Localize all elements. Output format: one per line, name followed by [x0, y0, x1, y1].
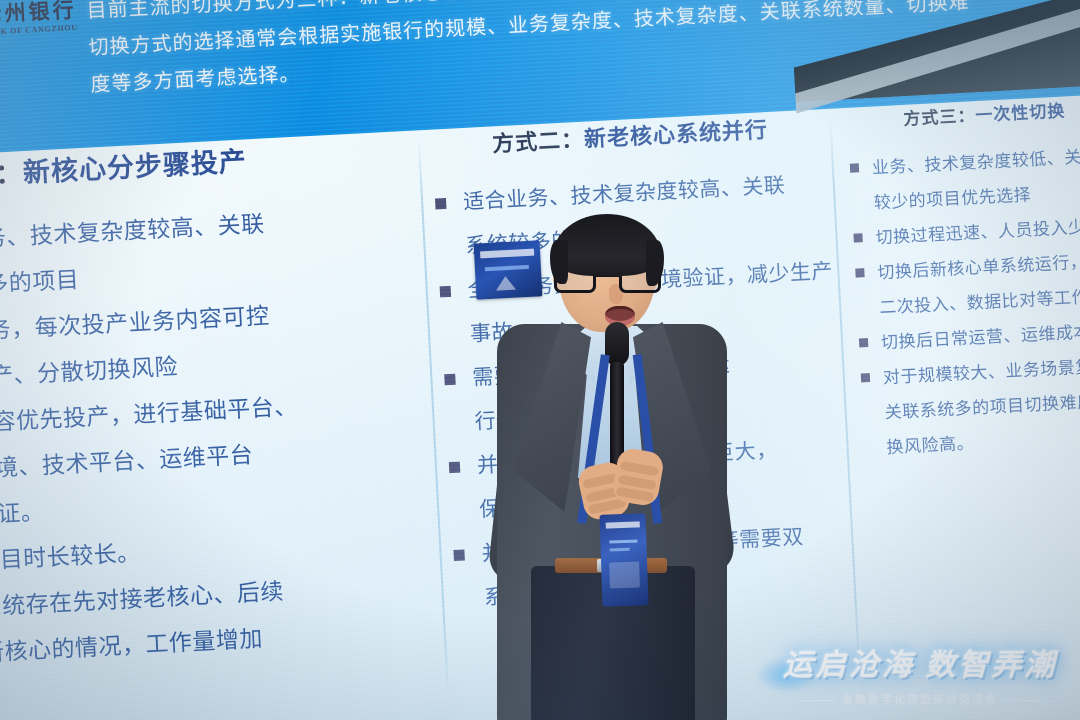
- column-method-one: 方式一：新核心分步骤投产 适合业务、技术复杂度较高、关联 系统较多的项目 拆分业…: [0, 133, 401, 681]
- bullet-text: 适合业务、技术复杂度较高、关联: [463, 174, 786, 214]
- photo-scene: 信创环境的切换方式 目前主流的切换方式为三种：新老核心系统并行使用、新核心分步骤…: [0, 0, 1080, 720]
- bullet-text: 系统较多的项目: [0, 266, 80, 301]
- bullet-text: 业务、技术复杂度较低、关联系统: [871, 145, 1080, 178]
- bullet-text: 对接新核心的情况，工作量增加: [0, 625, 263, 668]
- bullet-square-icon: [853, 233, 862, 242]
- bullet-square-icon: [861, 373, 870, 382]
- bullet-square-icon: [444, 374, 456, 386]
- conference-badge: [599, 513, 648, 607]
- bullet-text: 切换后日常运营、运维成本低: [881, 321, 1080, 352]
- speaker-figure: [497, 214, 727, 720]
- column-method-three: 方式三：一次性切换 业务、技术复杂度较低、关联系统 较少的项目优先选择 切换过程…: [845, 91, 1080, 468]
- event-subtitle: 金融数字化转型研讨交流会: [770, 691, 1070, 707]
- bullet-text: 二次投入、数据比对等工作: [879, 287, 1080, 317]
- bullet-text: 切换过程迅速、人员投入少: [875, 218, 1080, 248]
- column-two-heading-value: 新老核心系统并行: [583, 117, 768, 152]
- bank-name-en: BANK OF CANGZHOU: [0, 22, 78, 38]
- bullet-square-icon: [855, 268, 864, 277]
- column-three-bullets: 业务、技术复杂度较低、关联系统 较少的项目优先选择 切换过程迅速、人员投入少 切…: [847, 136, 1080, 467]
- bullet-text: 部分系统存在先对接老核心、后续: [0, 578, 284, 622]
- bullet-square-icon: [440, 286, 452, 298]
- column-one-bullets: 适合业务、技术复杂度较高、关联 系统较多的项目 拆分业务，每次投产业务内容可控 …: [0, 196, 401, 680]
- bullet-square-icon: [449, 462, 461, 474]
- event-watermark: 运启沧海 数智弄潮 金融数字化转型研讨交流会: [770, 640, 1070, 710]
- speaker-hair: [553, 214, 661, 276]
- microphone-flag: [474, 240, 543, 299]
- bullet-text: 硬件环境、技术平台、运维平台: [0, 441, 254, 484]
- bank-logo: G 沧州银行 BANK OF CANGZHOU: [0, 0, 84, 50]
- bullet-square-icon: [435, 198, 447, 210]
- column-three-heading-value: 一次性切换: [975, 101, 1066, 125]
- bullet-square-icon: [859, 338, 868, 347]
- bullet-text: 拆分业务，每次投产业务内容可控: [0, 302, 270, 346]
- column-one-heading-label: 方式一：: [0, 158, 24, 194]
- bullet-text: 对于规模较大、业务场景复杂、: [882, 356, 1080, 388]
- bullet-text: 较少的项目优先选择: [873, 185, 1031, 212]
- bullet-square-icon: [453, 549, 465, 561]
- event-subtitle-text: 金融数字化转型研讨交流会: [842, 694, 998, 706]
- column-two-heading-label: 方式二：: [492, 127, 585, 157]
- event-title: 运启沧海 数智弄潮: [770, 640, 1070, 684]
- bullet-square-icon: [850, 163, 859, 172]
- bullet-text: 多次投产、分散切换风险: [0, 353, 179, 392]
- column-three-heading-label: 方式三：: [903, 106, 976, 129]
- bullet-text: 换风险高。: [886, 434, 974, 458]
- bullet-text: 适合业务、技术复杂度较高、关联: [0, 210, 265, 254]
- bullet-text: 切换后新核心单系统运行，无需: [877, 251, 1080, 283]
- bullet-text: 生产验证。: [0, 498, 45, 530]
- column-one-heading-value: 新核心分步骤投产: [22, 146, 247, 188]
- bullet-text: 关联系统多的项目切换难度大、切: [884, 390, 1080, 423]
- bullet-text: 整体项目时长较长。: [0, 539, 141, 576]
